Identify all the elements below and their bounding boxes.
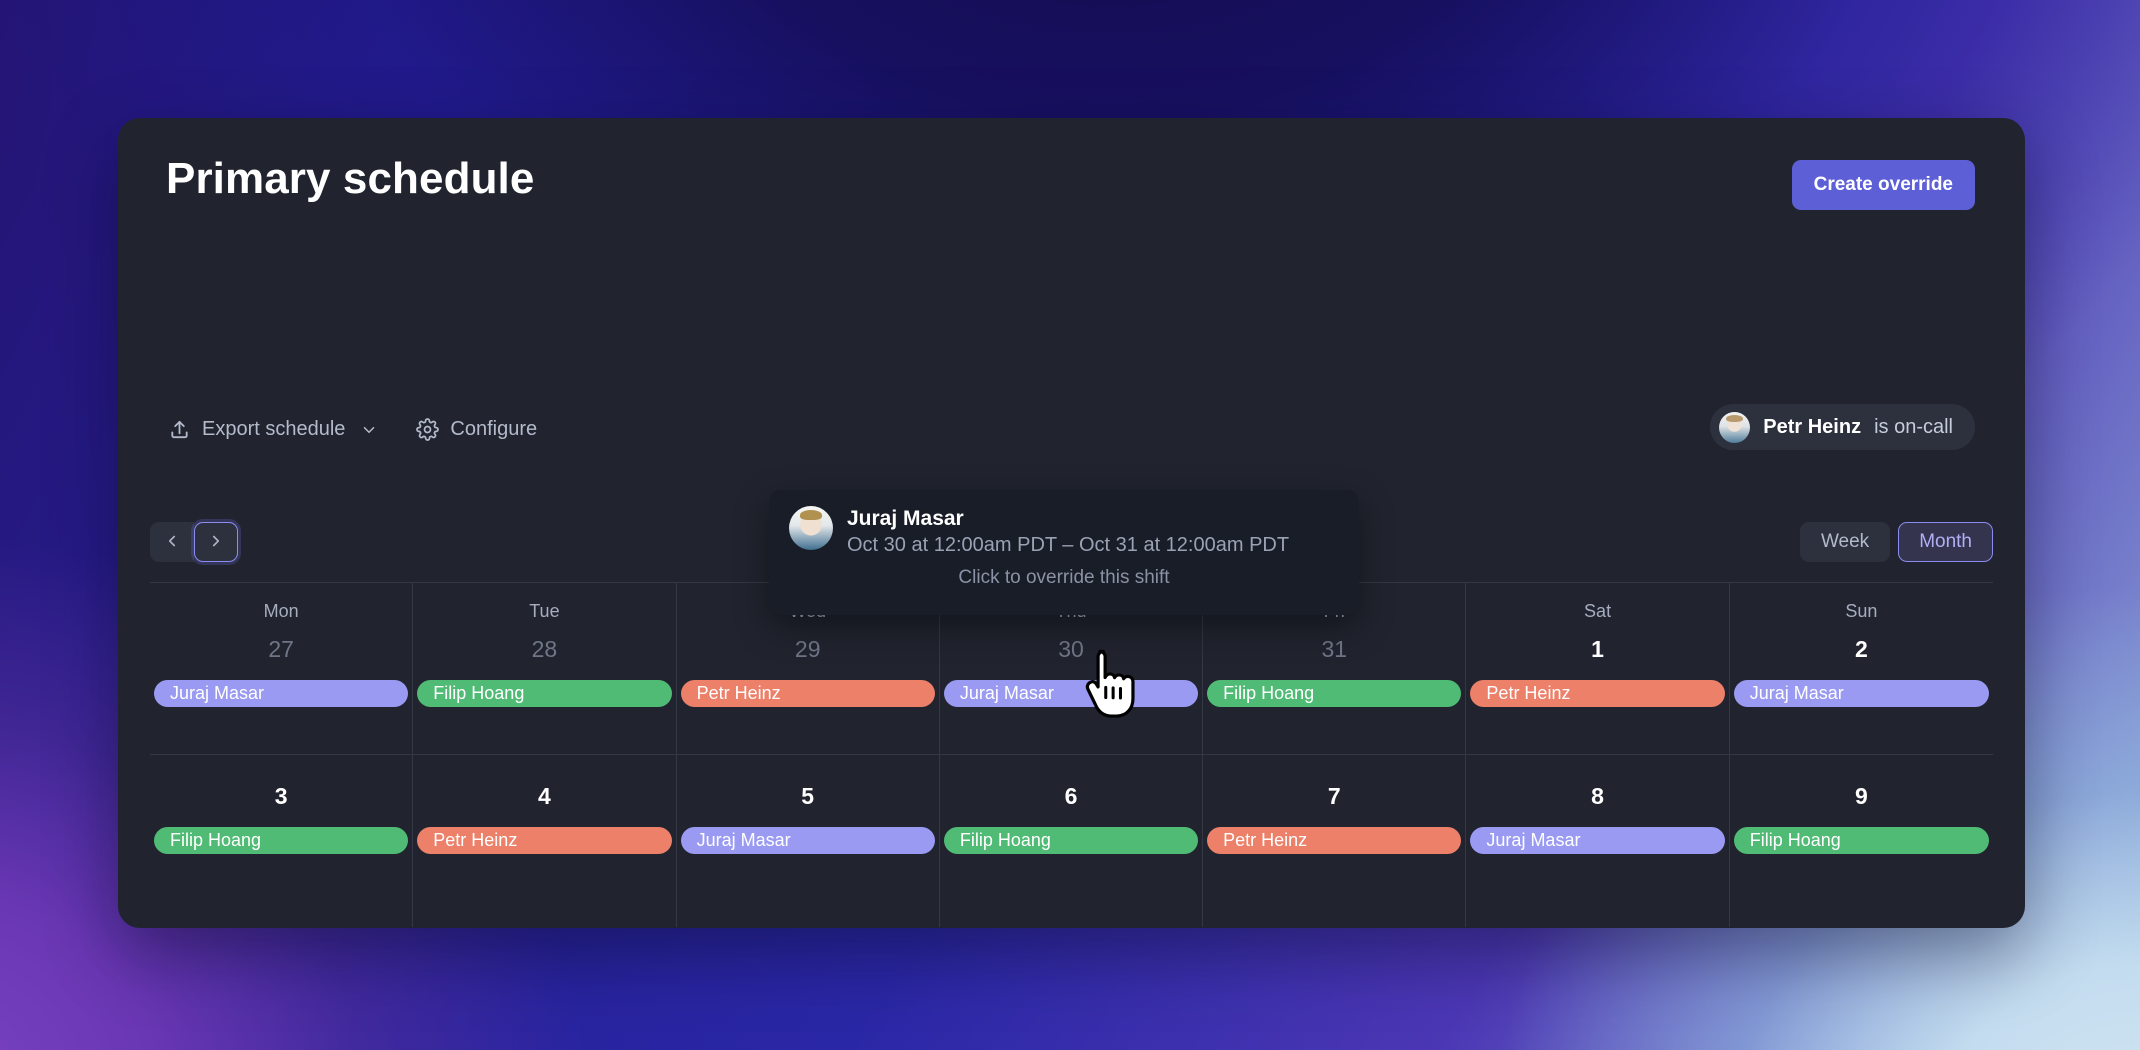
configure-label: Configure bbox=[450, 418, 537, 441]
day-of-week-label: Mon bbox=[150, 601, 412, 622]
day-number: 1 bbox=[1466, 636, 1728, 663]
gear-icon bbox=[416, 418, 439, 441]
day-number: 4 bbox=[413, 783, 675, 810]
day-number: 2 bbox=[1730, 636, 1993, 663]
day-of-week-label: Sat bbox=[1466, 601, 1728, 622]
day-number: 28 bbox=[413, 636, 675, 663]
calendar-grid: Mon 27 Juraj Masar Tue 28 Filip Hoang We… bbox=[150, 582, 1993, 928]
shift-pill[interactable]: Filip Hoang bbox=[154, 827, 408, 854]
shift-pill[interactable]: Petr Heinz bbox=[681, 680, 935, 707]
card-header: Primary schedule Create override bbox=[118, 118, 2025, 266]
day-cell[interactable]: 9 Filip Hoang bbox=[1730, 755, 1993, 927]
day-cell[interactable]: 7 Petr Heinz bbox=[1203, 755, 1466, 927]
day-number: 6 bbox=[940, 783, 1202, 810]
schedule-toolbar: Export schedule Configure bbox=[166, 414, 539, 445]
view-month-button[interactable]: Month bbox=[1898, 522, 1993, 562]
day-cell[interactable]: Tue 28 Filip Hoang bbox=[413, 583, 676, 754]
upload-icon bbox=[168, 418, 191, 441]
shift-pill[interactable]: Juraj Masar bbox=[1734, 680, 1989, 707]
shift-pill[interactable]: Juraj Masar bbox=[154, 680, 408, 707]
day-number: 29 bbox=[677, 636, 939, 663]
calendar-week-row: 3 Filip Hoang 4 Petr Heinz 5 Juraj Masar… bbox=[150, 755, 1993, 927]
day-cell[interactable]: 3 Filip Hoang bbox=[150, 755, 413, 927]
avatar bbox=[1719, 412, 1750, 443]
next-period-button[interactable] bbox=[194, 522, 238, 562]
shift-pill[interactable]: Juraj Masar bbox=[944, 680, 1198, 707]
chevron-down-icon bbox=[360, 421, 378, 439]
shift-pill[interactable]: Filip Hoang bbox=[1207, 680, 1461, 707]
on-call-name: Petr Heinz bbox=[1763, 416, 1861, 439]
day-number: 5 bbox=[677, 783, 939, 810]
day-cell[interactable]: Sat 1 Petr Heinz bbox=[1466, 583, 1729, 754]
tooltip-name: Juraj Masar bbox=[847, 506, 1289, 532]
tooltip-hint: Click to override this shift bbox=[789, 567, 1339, 589]
shift-pill[interactable]: Petr Heinz bbox=[1470, 680, 1724, 707]
day-cell[interactable]: 8 Juraj Masar bbox=[1466, 755, 1729, 927]
shift-pill[interactable]: Petr Heinz bbox=[1207, 827, 1461, 854]
day-cell[interactable]: Sun 2 Juraj Masar bbox=[1730, 583, 1993, 754]
tooltip-header: Juraj Masar Oct 30 at 12:00am PDT – Oct … bbox=[789, 506, 1339, 559]
day-number: 3 bbox=[150, 783, 412, 810]
day-cell[interactable]: 5 Juraj Masar bbox=[677, 755, 940, 927]
shift-tooltip: Juraj Masar Oct 30 at 12:00am PDT – Oct … bbox=[769, 490, 1359, 615]
view-week-button[interactable]: Week bbox=[1800, 522, 1890, 562]
shift-pill[interactable]: Juraj Masar bbox=[681, 827, 935, 854]
day-number: 7 bbox=[1203, 783, 1465, 810]
export-schedule-button[interactable]: Export schedule bbox=[166, 414, 380, 445]
export-schedule-label: Export schedule bbox=[202, 418, 345, 441]
view-toggle: Week Month bbox=[1800, 522, 1993, 562]
chevron-right-icon bbox=[207, 532, 225, 553]
day-of-week-label: Sun bbox=[1730, 601, 1993, 622]
day-cell[interactable]: 4 Petr Heinz bbox=[413, 755, 676, 927]
configure-button[interactable]: Configure bbox=[414, 414, 539, 445]
day-cell[interactable]: Mon 27 Juraj Masar bbox=[150, 583, 413, 754]
on-call-badge[interactable]: Petr Heinz is on-call bbox=[1710, 404, 1975, 450]
shift-pill[interactable]: Juraj Masar bbox=[1470, 827, 1724, 854]
day-number: 31 bbox=[1203, 636, 1465, 663]
day-number: 30 bbox=[940, 636, 1202, 663]
day-number: 8 bbox=[1466, 783, 1728, 810]
create-override-button[interactable]: Create override bbox=[1792, 160, 1975, 210]
shift-pill[interactable]: Filip Hoang bbox=[1734, 827, 1989, 854]
shift-pill[interactable]: Filip Hoang bbox=[944, 827, 1198, 854]
tooltip-time-range: Oct 30 at 12:00am PDT – Oct 31 at 12:00a… bbox=[847, 532, 1289, 559]
page-title: Primary schedule bbox=[166, 154, 534, 204]
shift-pill[interactable]: Filip Hoang bbox=[417, 680, 671, 707]
day-cell[interactable]: 6 Filip Hoang bbox=[940, 755, 1203, 927]
day-of-week-label: Tue bbox=[413, 601, 675, 622]
day-number: 27 bbox=[150, 636, 412, 663]
shift-pill[interactable]: Petr Heinz bbox=[417, 827, 671, 854]
avatar bbox=[789, 506, 833, 550]
on-call-suffix: is on-call bbox=[1874, 416, 1953, 439]
day-number: 9 bbox=[1730, 783, 1993, 810]
